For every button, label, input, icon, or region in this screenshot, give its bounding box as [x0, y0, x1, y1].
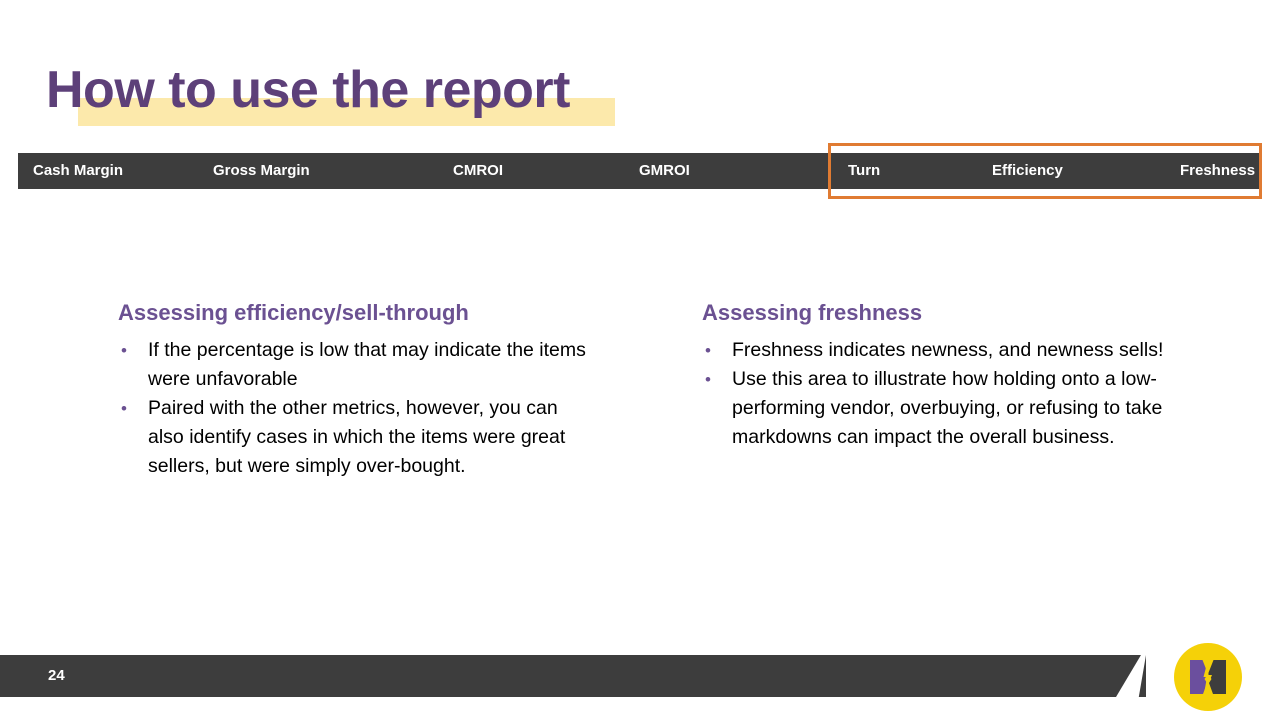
nav-item-cmroi[interactable]: CMROI: [453, 153, 503, 189]
list-item: Use this area to illustrate how holding …: [702, 365, 1202, 452]
list-item: If the percentage is low that may indica…: [118, 336, 598, 394]
company-m-logo: [1174, 643, 1242, 711]
bullet-list-freshness: Freshness indicates newness, and newness…: [702, 336, 1202, 452]
section-heading-efficiency: Assessing efficiency/sell-through: [118, 300, 598, 326]
nav-highlight-box: [828, 143, 1262, 199]
nav-item-cash-margin[interactable]: Cash Margin: [33, 153, 123, 189]
nav-item-gmroi[interactable]: GMROI: [639, 153, 690, 189]
nav-item-gross-margin[interactable]: Gross Margin: [213, 153, 310, 189]
footer-bar: [0, 655, 1141, 697]
column-efficiency: Assessing efficiency/sell-through If the…: [118, 300, 598, 481]
column-freshness: Assessing freshness Freshness indicates …: [702, 300, 1202, 452]
list-item: Paired with the other metrics, however, …: [118, 394, 598, 481]
page-title: How to use the report: [46, 60, 570, 120]
page-number: 24: [48, 655, 65, 697]
list-item: Freshness indicates newness, and newness…: [702, 336, 1202, 365]
section-heading-freshness: Assessing freshness: [702, 300, 1202, 326]
bullet-list-efficiency: If the percentage is low that may indica…: [118, 336, 598, 481]
